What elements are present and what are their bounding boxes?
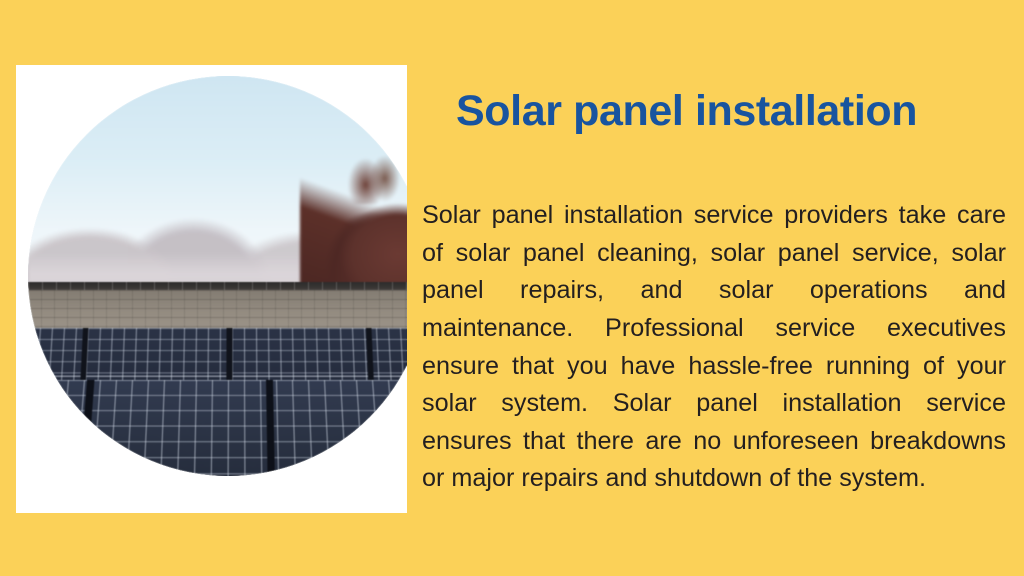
photo-card (16, 65, 407, 513)
page-title: Solar panel installation (456, 88, 1012, 135)
body-paragraph: Solar panel installation service provide… (422, 197, 1006, 498)
slide-canvas: Solar panel installation Solar panel ins… (0, 0, 1024, 576)
solar-panel-photo (28, 76, 407, 476)
photo-tree (300, 156, 407, 292)
photo-solar-panel-row-front (28, 380, 407, 476)
